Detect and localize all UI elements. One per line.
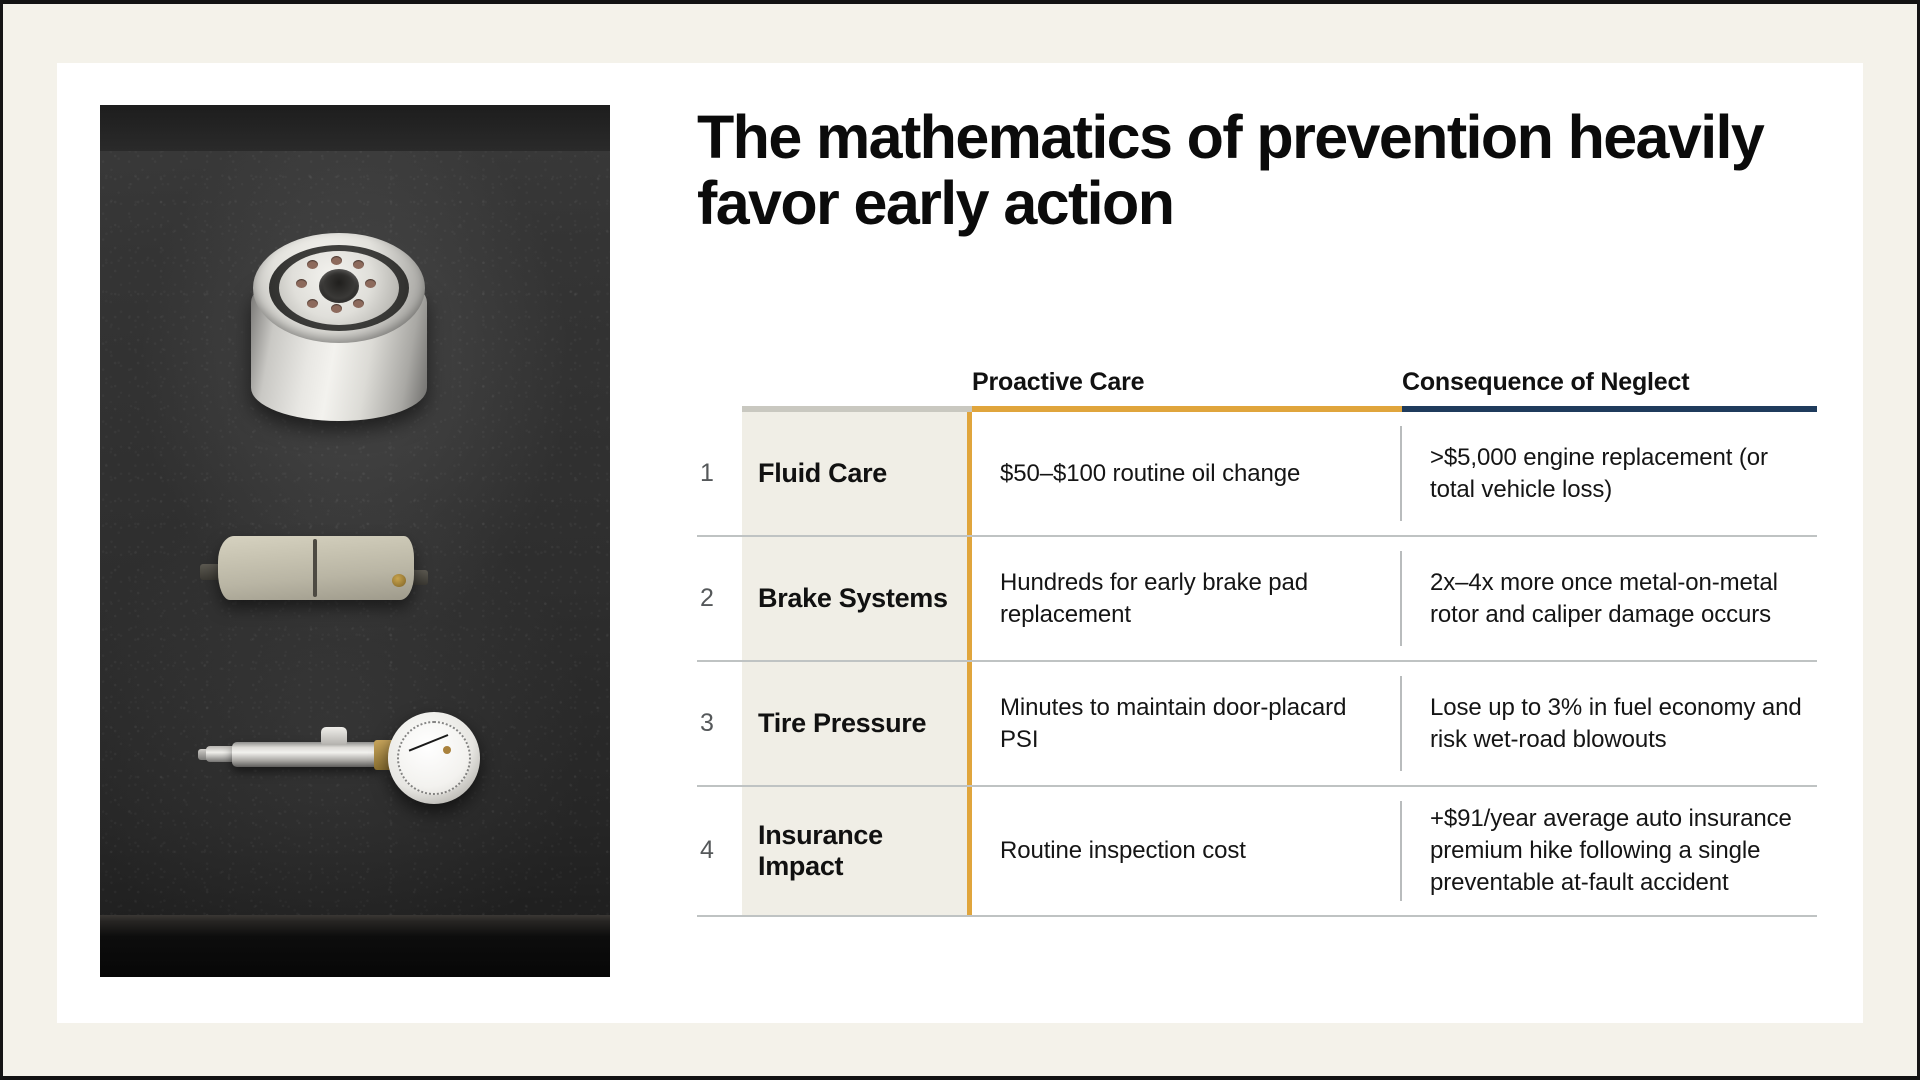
row-consequence-cell: Lose up to 3% in fuel economy and risk w… <box>1402 662 1817 785</box>
canvas-left-edge <box>0 0 3 1080</box>
row-consequence-cell: >$5,000 engine replacement (or total veh… <box>1402 412 1817 535</box>
row-category-label: Brake Systems <box>758 583 948 614</box>
row-category-label: Fluid Care <box>758 458 887 489</box>
row-consequence-text: 2x–4x more once metal-on-metal rotor and… <box>1430 567 1811 631</box>
oil-filter-center-port <box>319 269 359 303</box>
row-category-cell: Insurance Impact <box>742 787 972 915</box>
row-consequence-text: +$91/year average auto insurance premium… <box>1430 803 1811 899</box>
row-category-cell: Tire Pressure <box>742 662 972 785</box>
oil-filter-icon <box>247 233 431 429</box>
row-number: 2 <box>697 537 742 660</box>
row-proactive-text: Hundreds for early brake pad replacement <box>1000 567 1374 631</box>
comparison-table: Proactive Care Consequence of Neglect 1 … <box>697 368 1817 917</box>
canvas-top-edge <box>0 0 1920 4</box>
brake-pad-wear-clip <box>392 574 406 587</box>
table-row: 3 Tire Pressure Minutes to maintain door… <box>697 662 1817 787</box>
row-proactive-cell: Minutes to maintain door-placard PSI <box>972 662 1402 785</box>
row-category-cell: Fluid Care <box>742 412 972 535</box>
row-consequence-text: Lose up to 3% in fuel economy and risk w… <box>1430 692 1811 756</box>
oil-filter-hole <box>353 260 364 269</box>
row-category-label: Insurance Impact <box>758 820 949 882</box>
table-header-row: Proactive Care Consequence of Neglect <box>697 368 1817 406</box>
gauge-bleed-knob <box>321 727 347 745</box>
row-proactive-text: $50–$100 routine oil change <box>1000 458 1300 490</box>
content-column: The mathematics of prevention heavily fa… <box>697 105 1817 237</box>
header-proactive-care: Proactive Care <box>972 368 1402 397</box>
gauge-barrel <box>232 742 382 767</box>
oil-filter-hole <box>307 260 318 269</box>
header-consequence-of-neglect-label: Consequence of Neglect <box>1402 368 1689 396</box>
row-consequence-cell: +$91/year average auto insurance premium… <box>1402 787 1817 915</box>
infographic-card: The mathematics of prevention heavily fa… <box>57 63 1863 1023</box>
oil-filter-hole <box>296 279 307 288</box>
row-consequence-cell: 2x–4x more once metal-on-metal rotor and… <box>1402 537 1817 660</box>
row-consequence-text: >$5,000 engine replacement (or total veh… <box>1430 442 1811 506</box>
row-number: 3 <box>697 662 742 785</box>
row-proactive-text: Routine inspection cost <box>1000 835 1246 867</box>
oil-filter-hole <box>331 304 342 313</box>
oil-filter-hole <box>365 279 376 288</box>
brake-pad-slot <box>313 539 317 597</box>
row-number: 4 <box>697 787 742 915</box>
row-proactive-text: Minutes to maintain door-placard PSI <box>1000 692 1374 756</box>
header-proactive-care-label: Proactive Care <box>972 368 1144 396</box>
row-proactive-cell: Hundreds for early brake pad replacement <box>972 537 1402 660</box>
row-category-label: Tire Pressure <box>758 708 926 739</box>
brake-pad-icon <box>200 530 428 614</box>
table-row: 2 Brake Systems Hundreds for early brake… <box>697 537 1817 662</box>
gauge-tick-marks <box>397 721 471 795</box>
tire-pressure-gauge-icon <box>188 700 448 816</box>
row-category-cell: Brake Systems <box>742 537 972 660</box>
maintenance-parts-photo <box>100 105 610 977</box>
canvas-bottom-edge <box>0 1076 1920 1080</box>
gauge-center-pin <box>443 746 451 754</box>
table-row: 4 Insurance Impact Routine inspection co… <box>697 787 1817 917</box>
row-proactive-cell: $50–$100 routine oil change <box>972 412 1402 535</box>
oil-filter-hole <box>353 299 364 308</box>
row-number: 1 <box>697 412 742 535</box>
gauge-dial-housing <box>388 712 480 804</box>
oil-filter-hole <box>331 256 342 265</box>
table-row: 1 Fluid Care $50–$100 routine oil change… <box>697 412 1817 537</box>
photo-top-band <box>100 105 610 151</box>
page-title: The mathematics of prevention heavily fa… <box>697 105 1807 237</box>
header-consequence-of-neglect: Consequence of Neglect <box>1402 368 1817 397</box>
oil-filter-hole <box>307 299 318 308</box>
photo-bottom-band <box>100 915 610 977</box>
row-proactive-cell: Routine inspection cost <box>972 787 1402 915</box>
